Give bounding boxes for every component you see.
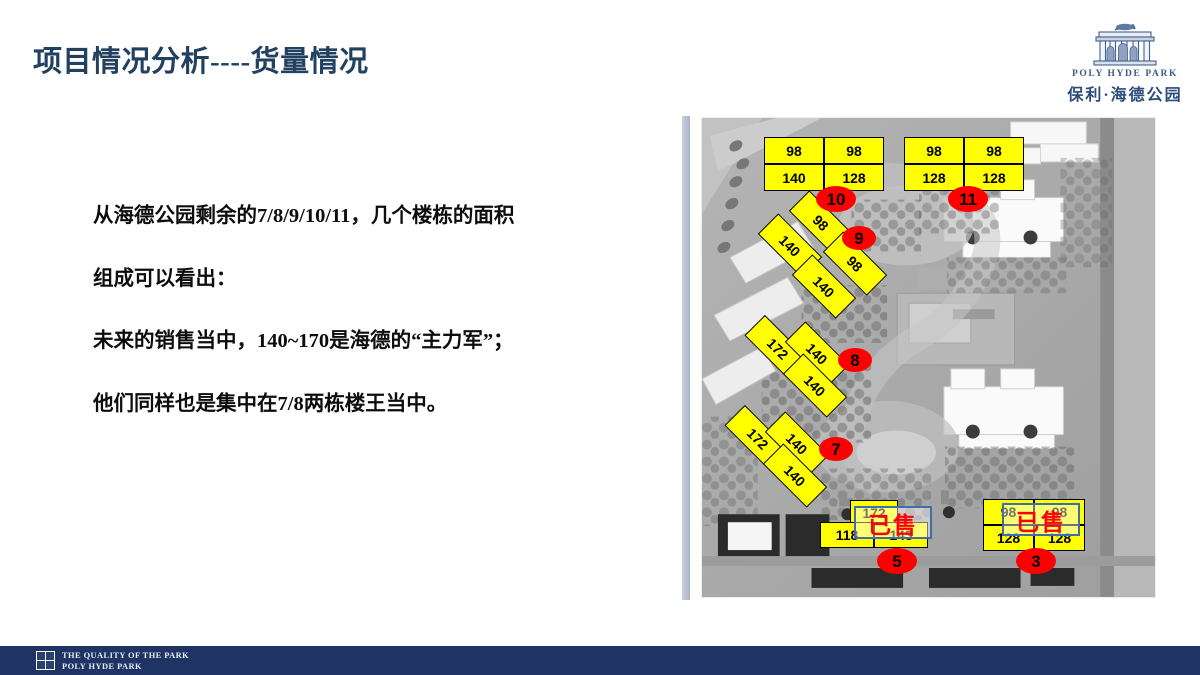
footer-line-1: THE QUALITY OF THE PARK	[62, 650, 189, 661]
site-plan-map[interactable]: 9898989814012812812898140981401721401401…	[701, 117, 1156, 598]
unit-block-u10-b: 98	[824, 137, 884, 164]
body-line-1: 从海德公园剩余的7/8/9/10/11，几个楼栋的面积	[93, 206, 653, 228]
unit-block-u11-c: 128	[904, 164, 964, 191]
unit-block-u10-a: 98	[764, 137, 824, 164]
body-line-3: 未来的销售当中，140~170是海德的“主力军”；	[93, 331, 653, 353]
poly-seal-icon	[36, 651, 55, 670]
slide-canvas: 项目情况分析----货量情况	[0, 0, 1200, 675]
body-text-block: 从海德公园剩余的7/8/9/10/11，几个楼栋的面积 组成可以看出： 未来的销…	[93, 206, 653, 456]
sold-badge-sold5: 已售	[854, 506, 932, 539]
unit-block-u11-a: 98	[904, 137, 964, 164]
brand-english-name: POLY HYDE PARK	[1063, 69, 1187, 79]
unit-block-u11-b: 98	[964, 137, 1024, 164]
body-line-4: 他们同样也是集中在7/8两栋楼王当中。	[93, 394, 653, 416]
building-marker-7: 7	[819, 437, 853, 461]
map-left-strip	[682, 116, 690, 600]
brand-chinese-name: 保利·海德公园	[1063, 81, 1187, 105]
building-marker-10: 10	[816, 186, 856, 212]
body-line-2: 组成可以看出：	[93, 269, 653, 291]
building-marker-8: 8	[838, 348, 872, 372]
building-marker-5: 5	[877, 548, 917, 574]
page-title: 项目情况分析----货量情况	[33, 38, 369, 80]
footer-text: THE QUALITY OF THE PARK POLY HYDE PARK	[62, 650, 189, 673]
building-marker-9: 9	[842, 226, 876, 250]
footer-line-2: POLY HYDE PARK	[62, 661, 189, 672]
unit-block-u10-c: 140	[764, 164, 824, 191]
brand-logo: POLY HYDE PARK 保利·海德公园	[1063, 20, 1187, 106]
building-marker-3: 3	[1016, 548, 1056, 574]
brandenburg-gate-icon	[1063, 20, 1187, 68]
sold-badge-sold3: 已售	[1002, 503, 1080, 536]
building-marker-11: 11	[948, 186, 988, 212]
